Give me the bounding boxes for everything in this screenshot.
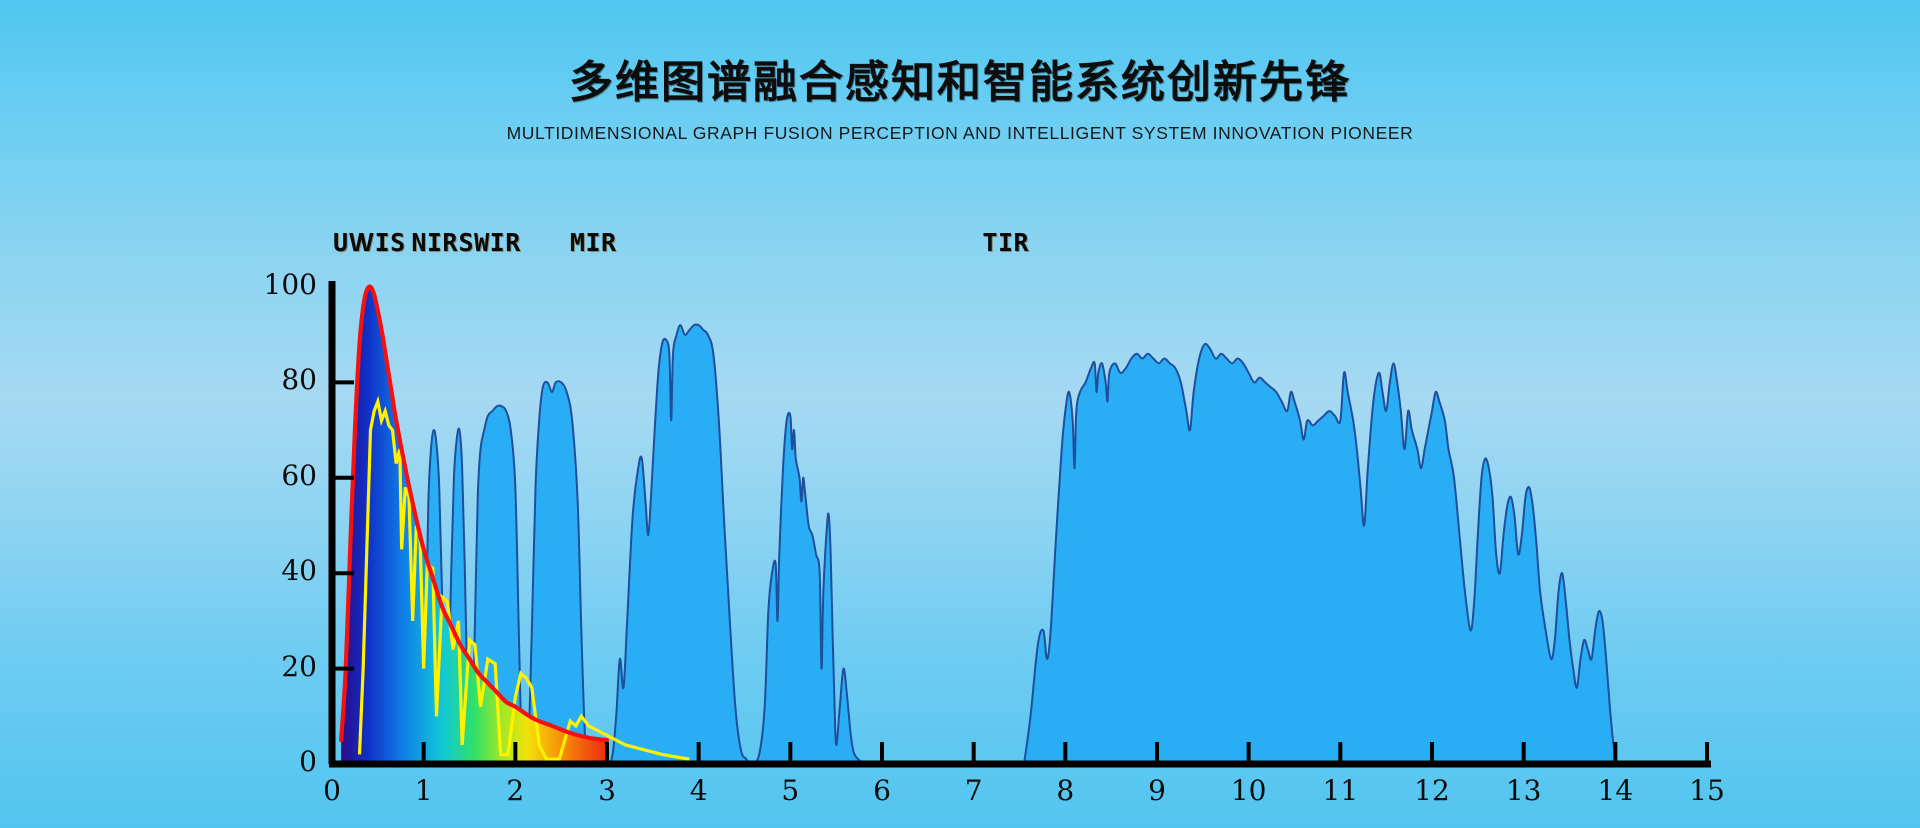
x-tick-label: 4 [659, 774, 739, 807]
x-tick-label: 12 [1392, 774, 1472, 807]
x-tick-label: 5 [750, 774, 830, 807]
x-tick-label: 11 [1300, 774, 1380, 807]
x-tick-label: 7 [934, 774, 1014, 807]
y-tick-label: 80 [222, 363, 317, 396]
x-tick-label: 15 [1667, 774, 1747, 807]
y-tick-label: 40 [222, 554, 317, 587]
y-tick-label: 20 [222, 650, 317, 683]
x-tick-label: 9 [1117, 774, 1197, 807]
x-tick-label: 6 [842, 774, 922, 807]
atmospheric-window-area [359, 325, 1618, 765]
y-tick-label: 100 [222, 268, 317, 301]
x-tick-label: 14 [1575, 774, 1655, 807]
x-tick-label: 10 [1209, 774, 1289, 807]
x-tick-label: 0 [292, 774, 372, 807]
x-tick-label: 2 [475, 774, 555, 807]
spectrum-chart [0, 0, 1920, 828]
x-tick-label: 3 [567, 774, 647, 807]
x-tick-label: 1 [384, 774, 464, 807]
poster-canvas: 多维图谱融合感知和智能系统创新先锋 MULTIDIMENSIONAL GRAPH… [0, 0, 1920, 828]
y-tick-label: 60 [222, 459, 317, 492]
x-tick-label: 8 [1025, 774, 1105, 807]
x-tick-label: 13 [1484, 774, 1564, 807]
